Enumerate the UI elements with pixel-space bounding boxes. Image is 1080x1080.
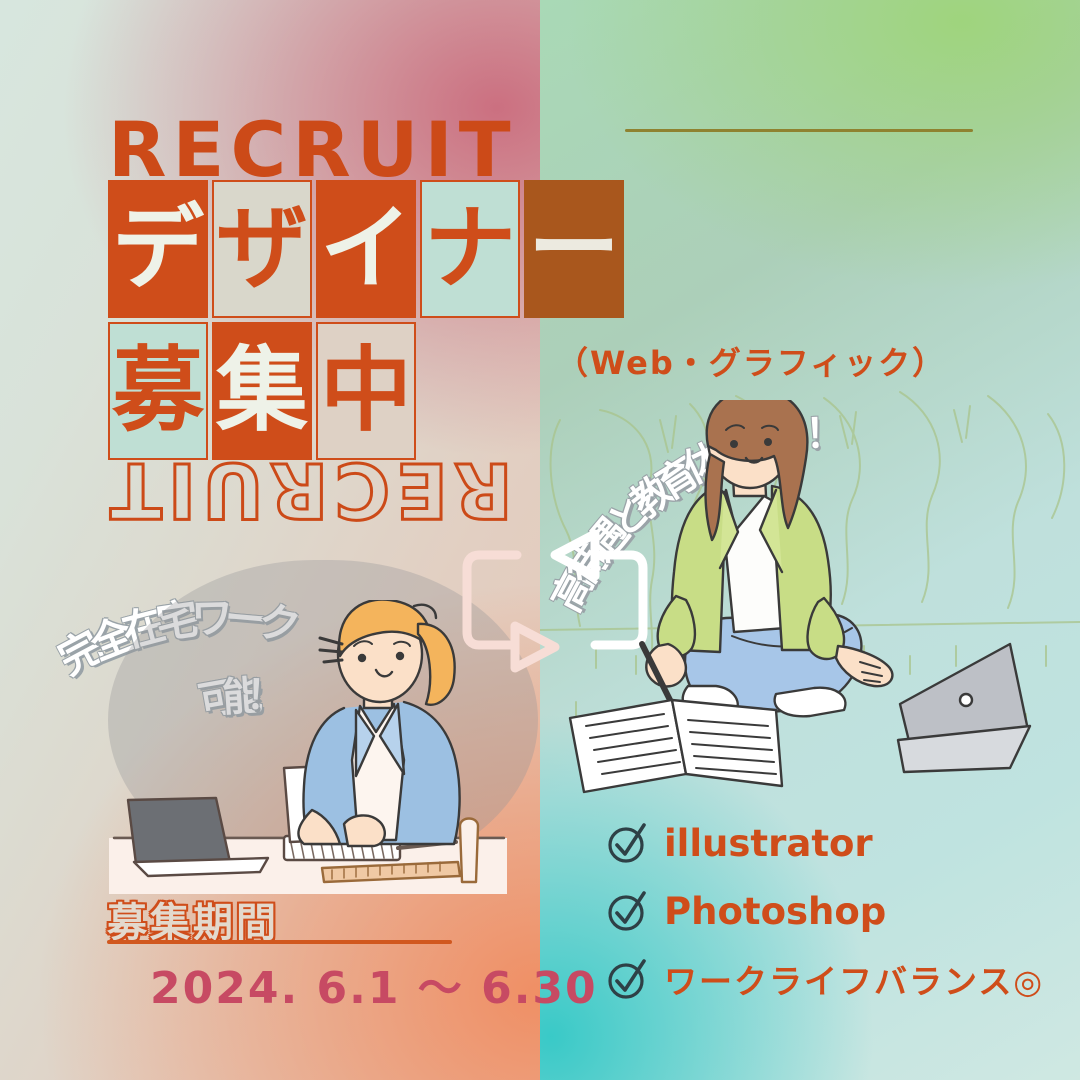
- check-circle-icon: [606, 958, 648, 1000]
- checklist-item-photoshop: Photoshop: [606, 880, 1044, 942]
- checklist-label: ワークライフバランス◎: [664, 955, 1044, 1003]
- tile-row-2: 募 集 中: [108, 322, 628, 464]
- tile-de: デ: [108, 180, 208, 318]
- skills-checklist: illustrator Photoshop ワークライフバランス◎: [606, 812, 1044, 1016]
- subtitle-scope: （Web・グラフィック）: [556, 338, 946, 384]
- check-circle-icon: [606, 890, 648, 932]
- checklist-label: illustrator: [664, 822, 873, 865]
- check-circle-icon: [606, 822, 648, 864]
- recruit-mirrored-outline: RECRUIT: [104, 452, 513, 528]
- tile-bo: 募: [108, 322, 208, 460]
- tile-za: ザ: [212, 180, 312, 318]
- period-divider-rule: [107, 940, 452, 944]
- period-value: 2024. 6.1 ～ 6.30: [150, 952, 598, 1016]
- tile-i: イ: [316, 180, 416, 318]
- tile-chuu: 中: [316, 322, 416, 460]
- tile-row-1: デ ザ イ ナ ー: [108, 180, 628, 322]
- checklist-item-worklife: ワークライフバランス◎: [606, 948, 1044, 1010]
- tile-na: ナ: [420, 180, 520, 318]
- recruitment-poster: RECRUIT デ ザ イ ナ ー 募 集 中 RECRUIT （Web・グラフ…: [0, 0, 1080, 1080]
- tile-choon: ー: [524, 180, 624, 318]
- top-divider-rule: [625, 129, 973, 132]
- tile-shuu: 集: [212, 322, 312, 460]
- title-tile-grid: デ ザ イ ナ ー 募 集 中: [108, 180, 628, 464]
- recruit-headline: RECRUIT: [108, 112, 517, 188]
- checklist-label: Photoshop: [664, 890, 886, 933]
- woman-sitting-writing-illustration: [560, 400, 1080, 820]
- checklist-item-illustrator: illustrator: [606, 812, 1044, 874]
